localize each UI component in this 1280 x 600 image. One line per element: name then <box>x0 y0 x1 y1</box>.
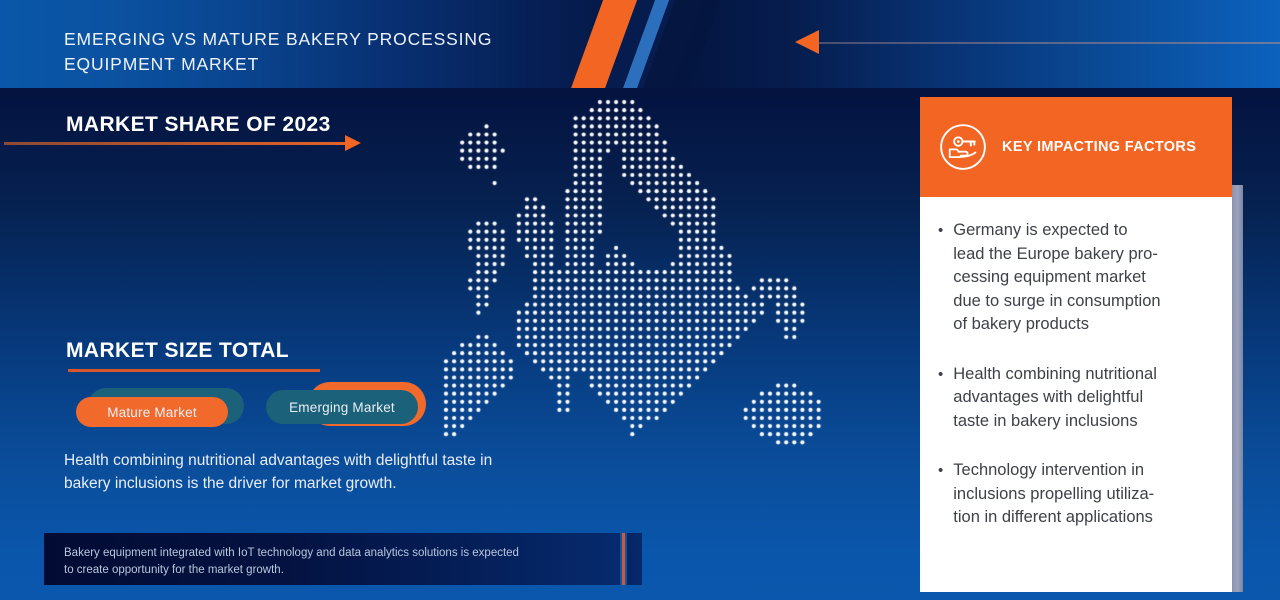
market-size-underline <box>68 369 320 372</box>
europe-dotted-map <box>440 88 880 450</box>
list-item-text: Health combining nutritional advantages … <box>953 363 1157 434</box>
bullet-icon: • <box>938 459 943 530</box>
legend-item-mature-market[interactable]: Mature Market <box>76 388 246 434</box>
list-item: • Technology intervention in inclusions … <box>938 459 1218 530</box>
header-band: EMERGING VS MATURE BAKERY PROCESSING EQU… <box>0 0 1280 88</box>
list-item-text: Germany is expected to lead the Europe b… <box>953 219 1160 337</box>
market-driver-text: Health combining nutritional advantages … <box>64 449 609 495</box>
key-factors-header: KEY IMPACTING FACTORS <box>920 97 1232 197</box>
key-factors-card: KEY IMPACTING FACTORS • Germany is expec… <box>920 97 1232 592</box>
footer-accent-bar <box>622 533 625 585</box>
footer-note-text: Bakery equipment integrated with IoT tec… <box>64 545 609 579</box>
legend-item-emerging-market[interactable]: Emerging Market <box>266 382 448 434</box>
infographic-stage: EMERGING VS MATURE BAKERY PROCESSING EQU… <box>0 0 1280 600</box>
hand-holding-key-icon <box>938 122 988 172</box>
market-share-rule <box>4 142 349 145</box>
bullet-icon: • <box>938 363 943 434</box>
key-factors-card-shadow <box>1232 185 1243 592</box>
list-item: • Health combining nutritional advantage… <box>938 363 1218 434</box>
footer-end-block <box>627 533 642 585</box>
market-size-heading: MARKET SIZE TOTAL <box>66 339 289 363</box>
legend-pill-label-emerging: Emerging Market <box>266 390 418 424</box>
key-factors-title: KEY IMPACTING FACTORS <box>1002 139 1196 155</box>
page-title: EMERGING VS MATURE BAKERY PROCESSING EQU… <box>64 27 624 77</box>
key-factors-list: • Germany is expected to lead the Europe… <box>920 197 1232 592</box>
header-arrow-line <box>818 42 1280 44</box>
arrow-left-icon <box>795 30 819 54</box>
bullet-icon: • <box>938 219 943 337</box>
arrow-right-icon <box>345 135 361 151</box>
list-item: • Germany is expected to lead the Europe… <box>938 219 1218 337</box>
market-share-heading: MARKET SHARE OF 2023 <box>66 113 331 137</box>
list-item-text: Technology intervention in inclusions pr… <box>953 459 1154 530</box>
legend-pill-label-mature: Mature Market <box>76 397 228 427</box>
